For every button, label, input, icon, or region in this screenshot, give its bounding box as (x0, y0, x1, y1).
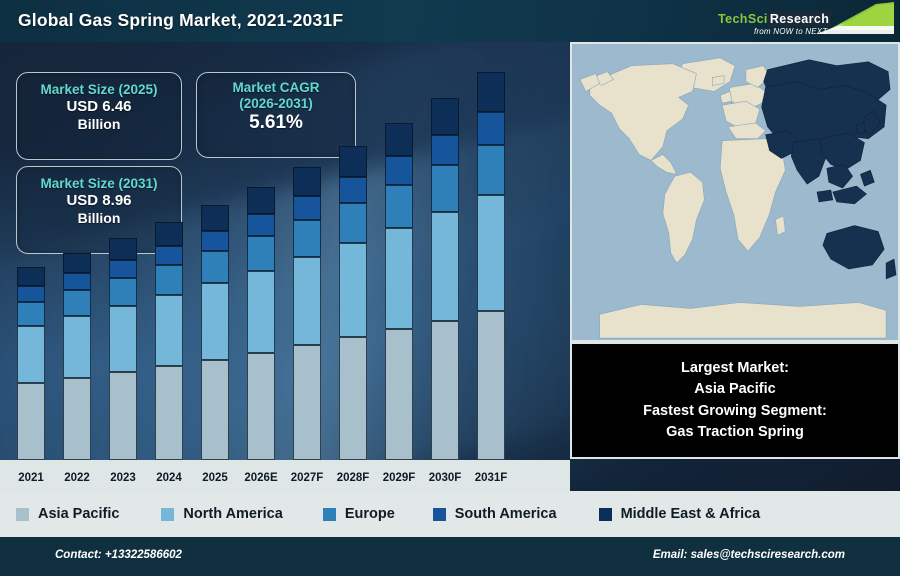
bar-segment-north-america (63, 316, 91, 377)
bar-segment-middle-east-africa (109, 238, 137, 260)
bar-segment-south-america (109, 260, 137, 278)
market-highlights-box: Largest Market: Asia Pacific Fastest Gro… (570, 342, 900, 459)
info-line-largest-market-label: Largest Market: (681, 358, 789, 379)
legend-swatch-icon (16, 508, 29, 521)
bar-segment-middle-east-africa (431, 98, 459, 134)
bar-segment-europe (477, 145, 505, 195)
bar-segment-europe (431, 165, 459, 212)
bar-segment-asia-pacific (247, 353, 275, 460)
bar-segment-europe (247, 236, 275, 271)
bar-2031f (477, 72, 505, 460)
legend-item-asia-pacific[interactable]: Asia Pacific (16, 506, 119, 522)
legend-swatch-icon (161, 508, 174, 521)
world-map-panel (570, 42, 900, 342)
bar-segment-south-america (63, 273, 91, 290)
bar-segment-europe (63, 290, 91, 316)
bar-segment-asia-pacific (17, 383, 45, 460)
header-bar: Global Gas Spring Market, 2021-2031F Tec… (0, 0, 900, 42)
bar-segment-south-america (339, 177, 367, 203)
legend-label: North America (183, 506, 282, 522)
legend-item-south-america[interactable]: South America (433, 506, 557, 522)
bar-segment-north-america (477, 195, 505, 311)
bar-segment-middle-east-africa (477, 72, 505, 112)
bar-segment-north-america (109, 306, 137, 372)
footer-bar: Contact: +13322586602 Email: sales@techs… (0, 537, 900, 576)
legend-label: Europe (345, 506, 395, 522)
bar-segment-south-america (155, 246, 183, 265)
legend-label: Asia Pacific (38, 506, 119, 522)
world-map-icon (572, 44, 898, 340)
x-axis-label-2024: 2024 (146, 472, 192, 484)
chart-canvas: Market Size (2025) USD 6.46 Billion Mark… (0, 42, 900, 491)
bar-segment-north-america (201, 283, 229, 359)
bar-segment-south-america (201, 231, 229, 252)
bar-segment-north-america (385, 228, 413, 329)
x-axis-label-2028f: 2028F (330, 472, 376, 484)
legend-swatch-icon (433, 508, 446, 521)
bar-segment-europe (109, 278, 137, 306)
techsci-research-logo: TechSciResearch from NOW to NEXT (708, 0, 894, 42)
bar-segment-middle-east-africa (201, 205, 229, 230)
legend-swatch-icon (323, 508, 336, 521)
info-line-largest-market-value: Asia Pacific (694, 379, 775, 400)
bar-2022 (63, 253, 91, 460)
bar-segment-asia-pacific (201, 360, 229, 460)
logo-tagline: from NOW to NEXT (754, 27, 827, 36)
info-line-fastest-segment-label: Fastest Growing Segment: (643, 401, 827, 422)
x-axis-label-2021: 2021 (8, 472, 54, 484)
bar-segment-middle-east-africa (63, 253, 91, 273)
bar-segment-europe (339, 203, 367, 243)
x-axis-label-2022: 2022 (54, 472, 100, 484)
bar-segment-north-america (247, 271, 275, 353)
bar-segment-asia-pacific (63, 378, 91, 460)
footer-contact: Contact: +13322586602 (55, 549, 182, 561)
bar-segment-south-america (293, 196, 321, 220)
bar-segment-europe (17, 302, 45, 326)
x-axis-label-2023: 2023 (100, 472, 146, 484)
info-line-fastest-segment-value: Gas Traction Spring (666, 422, 804, 443)
bar-2023 (109, 238, 137, 460)
x-axis-label-2027f: 2027F (284, 472, 330, 484)
bar-segment-middle-east-africa (155, 222, 183, 245)
bar-segment-asia-pacific (109, 372, 137, 460)
bar-segment-middle-east-africa (17, 267, 45, 286)
bar-segment-north-america (293, 257, 321, 345)
legend-label: South America (455, 506, 557, 522)
bar-2025 (201, 205, 229, 460)
bar-segment-europe (201, 251, 229, 283)
bar-segment-middle-east-africa (339, 146, 367, 177)
bar-2029f (385, 123, 413, 460)
x-axis-label-2026e: 2026E (238, 472, 284, 484)
bar-segment-middle-east-africa (385, 123, 413, 157)
bar-segment-north-america (339, 243, 367, 337)
bar-segment-middle-east-africa (293, 167, 321, 196)
footer-email: Email: sales@techsciresearch.com (653, 549, 845, 561)
bar-segment-south-america (17, 286, 45, 302)
bar-segment-europe (155, 265, 183, 295)
bar-segment-asia-pacific (477, 311, 505, 460)
bar-segment-middle-east-africa (247, 187, 275, 214)
bar-segment-north-america (431, 212, 459, 321)
bar-segment-south-america (477, 112, 505, 144)
logo-name-part1: TechSci (718, 12, 768, 26)
legend-label: Middle East & Africa (621, 506, 761, 522)
x-axis-label-2030f: 2030F (422, 472, 468, 484)
bar-segment-asia-pacific (385, 329, 413, 460)
infographic-root: Global Gas Spring Market, 2021-2031F Tec… (0, 0, 900, 576)
legend-item-north-america[interactable]: North America (161, 506, 282, 522)
legend-item-middle-east-africa[interactable]: Middle East & Africa (599, 506, 761, 522)
bar-segment-asia-pacific (293, 345, 321, 460)
logo-name-part2: Research (768, 11, 832, 27)
page-title: Global Gas Spring Market, 2021-2031F (18, 10, 343, 31)
bar-segment-south-america (247, 214, 275, 237)
bar-segment-europe (293, 220, 321, 257)
logo-wordmark: TechSciResearch (718, 13, 868, 26)
x-axis-label-2029f: 2029F (376, 472, 422, 484)
bar-segment-north-america (17, 326, 45, 383)
legend-swatch-icon (599, 508, 612, 521)
bar-segment-north-america (155, 295, 183, 366)
bar-segment-europe (385, 185, 413, 228)
bar-segment-asia-pacific (339, 337, 367, 460)
bar-2024 (155, 222, 183, 460)
bar-segment-south-america (431, 135, 459, 165)
bar-2021 (17, 267, 45, 460)
bar-segment-south-america (385, 156, 413, 184)
bar-2026e (247, 187, 275, 460)
bar-2027f (293, 167, 321, 460)
bar-2028f (339, 146, 367, 460)
x-axis-label-2025: 2025 (192, 472, 238, 484)
bar-segment-asia-pacific (155, 366, 183, 460)
chart-legend: Asia PacificNorth AmericaEuropeSouth Ame… (0, 491, 900, 537)
bar-segment-asia-pacific (431, 321, 459, 460)
chart-x-axis: 202120222023202420252026E2027F2028F2029F… (0, 460, 570, 491)
x-axis-label-2031f: 2031F (468, 472, 514, 484)
stacked-bar-chart (0, 42, 570, 491)
bar-2030f (431, 98, 459, 460)
legend-item-europe[interactable]: Europe (323, 506, 395, 522)
